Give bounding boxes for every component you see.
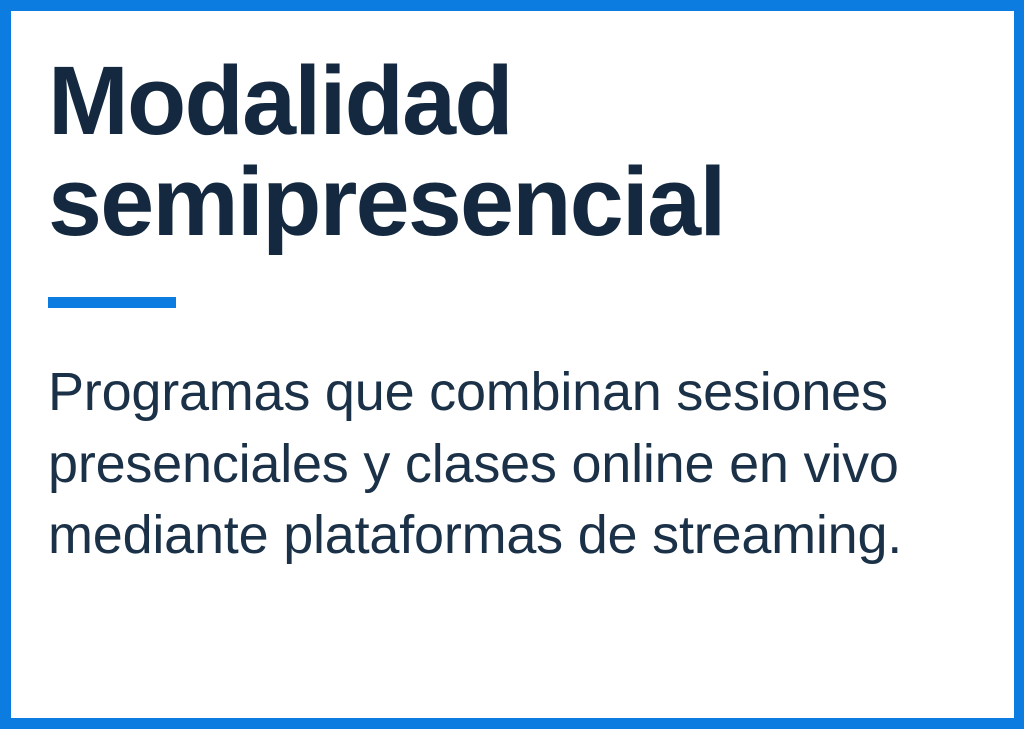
accent-divider — [48, 297, 176, 308]
modality-info-card: Modalidad semipresencial Programas que c… — [0, 0, 1024, 729]
page-title: Modalidad semipresencial — [48, 51, 725, 253]
card-surface: Modalidad semipresencial Programas que c… — [11, 11, 1014, 718]
card-description: Programas que combinan sesiones presenci… — [48, 357, 928, 572]
